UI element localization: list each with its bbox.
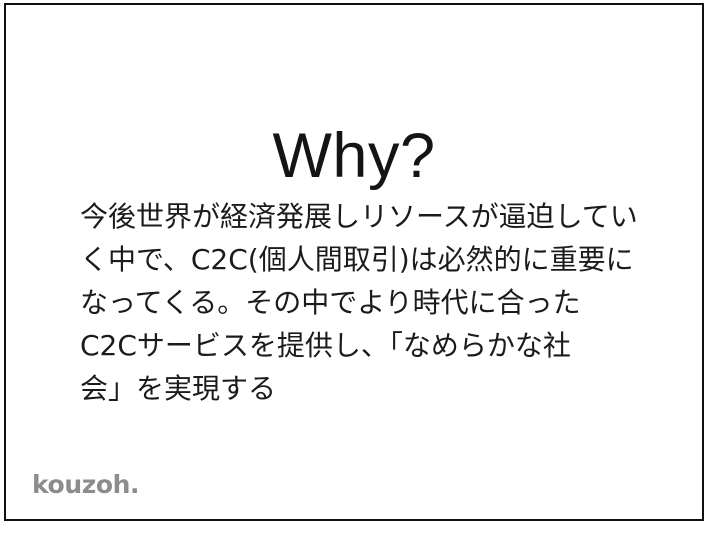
body-line: なってくる。その中でより時代に合った — [80, 281, 670, 324]
kouzoh-logo: kouzoh. — [32, 472, 139, 497]
slide-canvas: Why? 今後世界が経済発展しリソースが逼迫してい く中で、C2C(個人間取引)… — [6, 5, 702, 519]
page-title: Why? — [6, 125, 702, 188]
slide-frame: Why? 今後世界が経済発展しリソースが逼迫してい く中で、C2C(個人間取引)… — [4, 3, 704, 521]
body-line: 会」を実現する — [80, 367, 670, 410]
body-line: く中で、C2C(個人間取引)は必然的に重要に — [80, 238, 670, 281]
body-line: C2Cサービスを提供し、「なめらかな社 — [80, 324, 670, 367]
body-line: 今後世界が経済発展しリソースが逼迫してい — [80, 195, 670, 238]
slide-body-text: 今後世界が経済発展しリソースが逼迫してい く中で、C2C(個人間取引)は必然的に… — [80, 195, 670, 410]
